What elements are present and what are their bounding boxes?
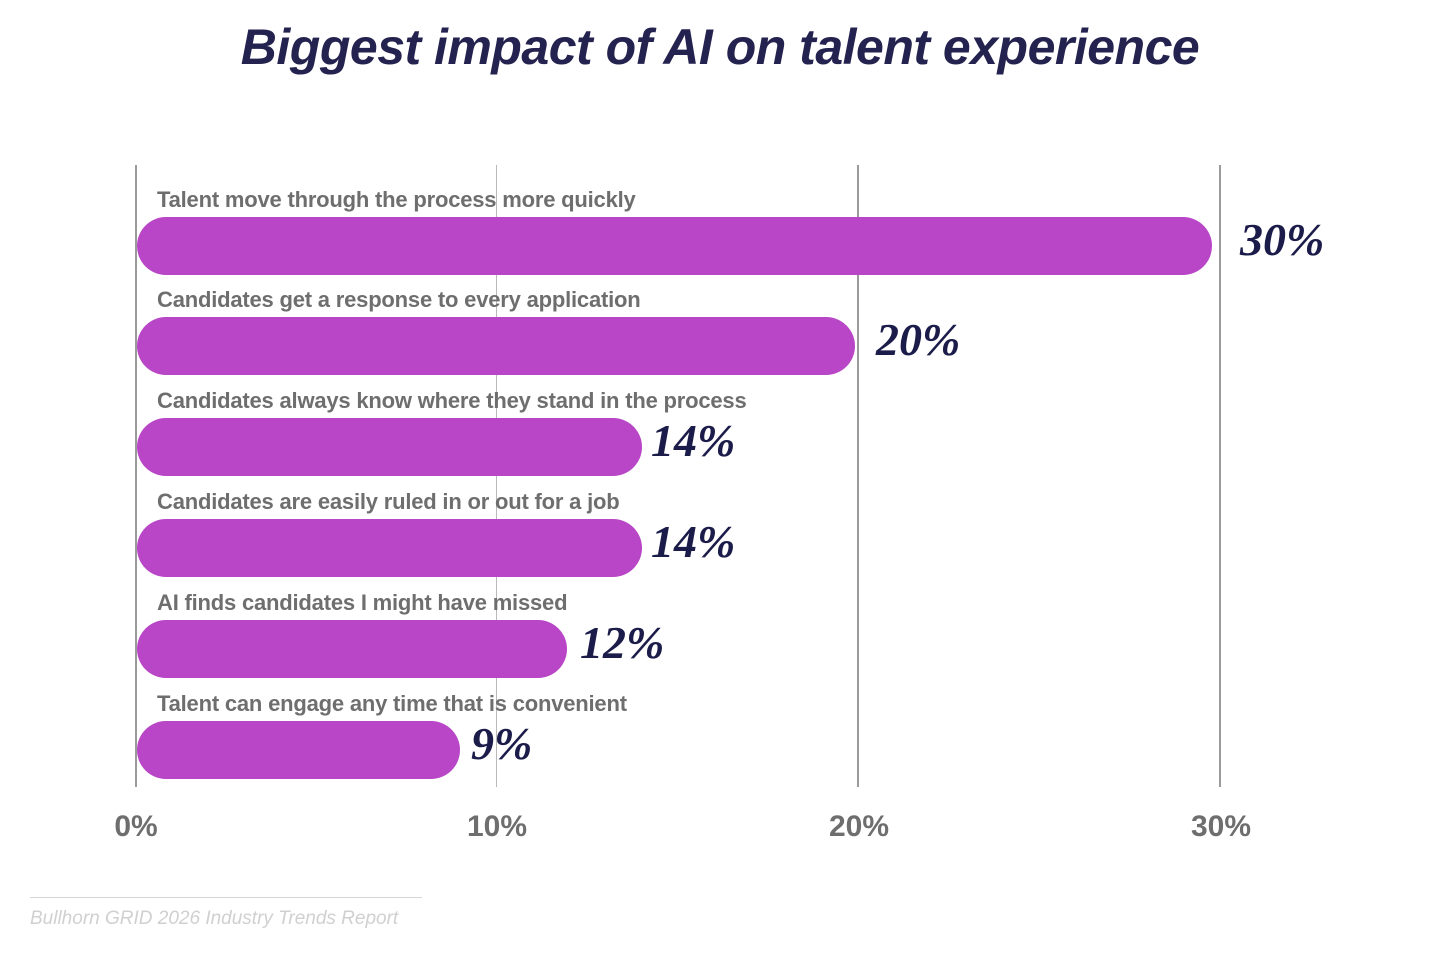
bar-row: Candidates get a response to every appli…: [135, 265, 1295, 365]
bar-category-label: Talent can engage any time that is conve…: [157, 691, 627, 717]
bar-category-label: Candidates always know where they stand …: [157, 388, 747, 414]
x-tick-label: 20%: [829, 810, 889, 844]
bar-row: Candidates are easily ruled in or out fo…: [135, 467, 1295, 567]
bar-value-label: 14%: [651, 515, 735, 568]
footer: Bullhorn GRID 2026 Industry Trends Repor…: [30, 897, 422, 930]
bar-value-label: 14%: [651, 414, 735, 467]
bar-row: AI finds candidates I might have missed …: [135, 568, 1295, 668]
bar-value-label: 30%: [1240, 213, 1324, 266]
bar-value-label: 20%: [876, 313, 960, 366]
bar-row: Candidates always know where they stand …: [135, 366, 1295, 466]
plot-area: Talent move through the process more qui…: [135, 165, 1295, 787]
footer-divider: [30, 897, 422, 898]
bar-track: [137, 721, 460, 779]
chart-title: Biggest impact of AI on talent experienc…: [0, 18, 1440, 76]
x-tick-label: 30%: [1191, 810, 1251, 844]
bar-value-label: 9%: [471, 717, 532, 770]
bar-row: Talent move through the process more qui…: [135, 165, 1295, 265]
x-axis: 0% 10% 20% 30%: [0, 810, 1440, 860]
x-tick-label: 10%: [467, 810, 527, 844]
bar-category-label: Talent move through the process more qui…: [157, 187, 636, 213]
x-tick-label: 0%: [114, 810, 157, 844]
bar-row: Talent can engage any time that is conve…: [135, 669, 1295, 769]
chart-page: { "chart_data": { "type": "bar", "orient…: [0, 0, 1440, 956]
bar-value-label: 12%: [580, 616, 664, 669]
bar-fill[interactable]: [137, 721, 460, 779]
bar-category-label: Candidates get a response to every appli…: [157, 287, 641, 313]
bar-category-label: Candidates are easily ruled in or out fo…: [157, 489, 619, 515]
footer-source-text: Bullhorn GRID 2026 Industry Trends Repor…: [30, 908, 422, 930]
bar-category-label: AI finds candidates I might have missed: [157, 590, 567, 616]
